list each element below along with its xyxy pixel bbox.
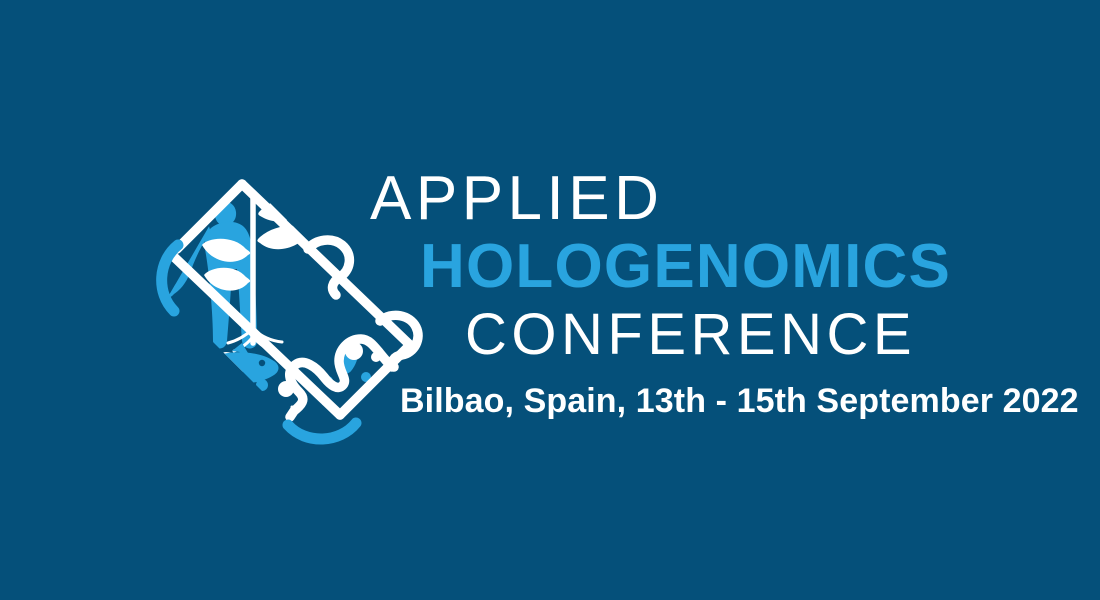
title-hologenomics: HOLOGENOMICS [366, 236, 1066, 298]
title-conference: CONFERENCE [366, 306, 1066, 364]
left-arc-accent [162, 245, 178, 311]
title-applied: APPLIED [366, 168, 1066, 230]
poster-canvas: APPLIED HOLOGENOMICS CONFERENCE Bilbao, … [0, 0, 1100, 600]
event-location-and-dates: Bilbao, Spain, 13th - 15th September 202… [366, 384, 1066, 418]
wordmark: APPLIED HOLOGENOMICS CONFERENCE Bilbao, … [366, 168, 1066, 418]
bottom-arc-accent [288, 423, 356, 439]
